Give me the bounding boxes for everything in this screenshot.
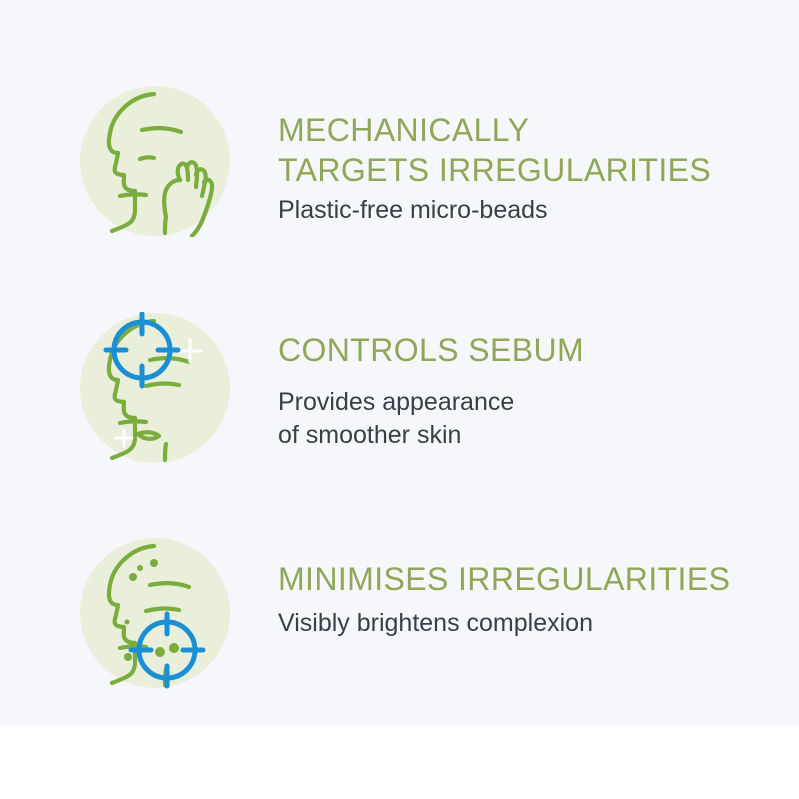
face-profile-with-forehead-target-icon [80, 312, 230, 464]
feature-text-column: MINIMISES IRREGULARITIES Visibly brighte… [278, 537, 799, 640]
feature-title: MECHANICALLY TARGETS IRREGULARITIES [278, 110, 799, 190]
feature-text-column: CONTROLS SEBUM Provides appearance of sm… [278, 312, 799, 452]
face-profile-with-hand-icon [80, 85, 230, 237]
feature-subtitle: Provides appearance of smoother skin [278, 386, 799, 452]
feature-subtitle: Plastic-free micro-beads [278, 194, 799, 227]
feature-row: MECHANICALLY TARGETS IRREGULARITIES Plas… [0, 85, 799, 237]
feature-subtitle: Visibly brightens complexion [278, 607, 799, 640]
feature-row: CONTROLS SEBUM Provides appearance of sm… [0, 312, 799, 464]
feature-text-column: MECHANICALLY TARGETS IRREGULARITIES Plas… [278, 85, 799, 227]
face-profile-with-blemish-target-icon [80, 537, 230, 689]
feature-row: MINIMISES IRREGULARITIES Visibly brighte… [0, 537, 799, 689]
feature-title: CONTROLS SEBUM [278, 330, 799, 370]
feature-title: MINIMISES IRREGULARITIES [278, 559, 799, 599]
benefits-poster: MECHANICALLY TARGETS IRREGULARITIES Plas… [0, 0, 799, 799]
